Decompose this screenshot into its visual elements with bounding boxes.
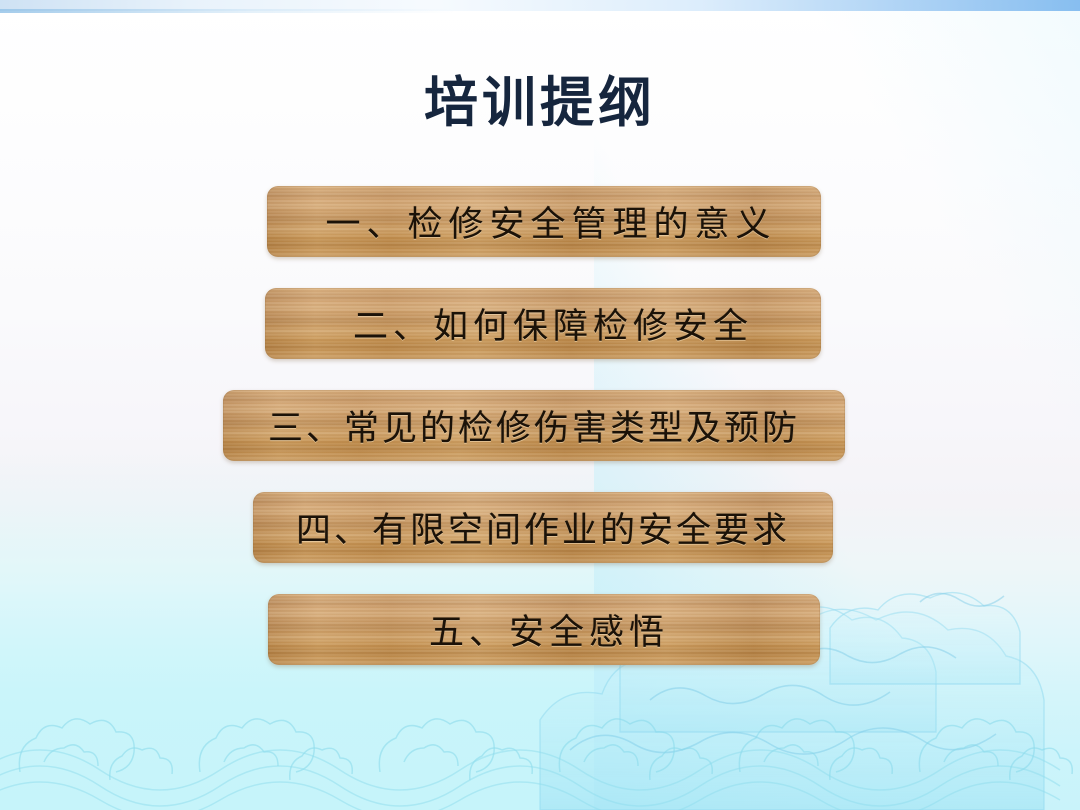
outline-item-4[interactable]: 四、有限空间作业的安全要求 (253, 492, 833, 563)
outline-item-2-label: 二、如何保障检修安全 (333, 298, 753, 349)
sea-wave-pattern-icon (0, 700, 1080, 810)
outline-list: 一、检修安全管理的意义 二、如何保障检修安全 三、常见的检修伤害类型及预防 四、… (0, 186, 1080, 665)
outline-item-3[interactable]: 三、常见的检修伤害类型及预防 (223, 390, 845, 461)
outline-item-4-label: 四、有限空间作业的安全要求 (296, 502, 790, 553)
top-accent-band-secondary-icon (0, 9, 454, 13)
outline-item-5[interactable]: 五、安全感悟 (268, 594, 820, 665)
page-title: 培训提纲 (0, 58, 1080, 137)
outline-item-1[interactable]: 一、检修安全管理的意义 (267, 186, 821, 257)
outline-item-1-label: 一、检修安全管理的意义 (311, 196, 776, 247)
slide-canvas: 培训提纲 一、检修安全管理的意义 二、如何保障检修安全 三、常见的检修伤害类型及… (0, 0, 1080, 810)
outline-item-3-label: 三、常见的检修伤害类型及预防 (268, 400, 800, 451)
outline-item-5-label: 五、安全感悟 (419, 604, 669, 655)
outline-item-2[interactable]: 二、如何保障检修安全 (265, 288, 821, 359)
